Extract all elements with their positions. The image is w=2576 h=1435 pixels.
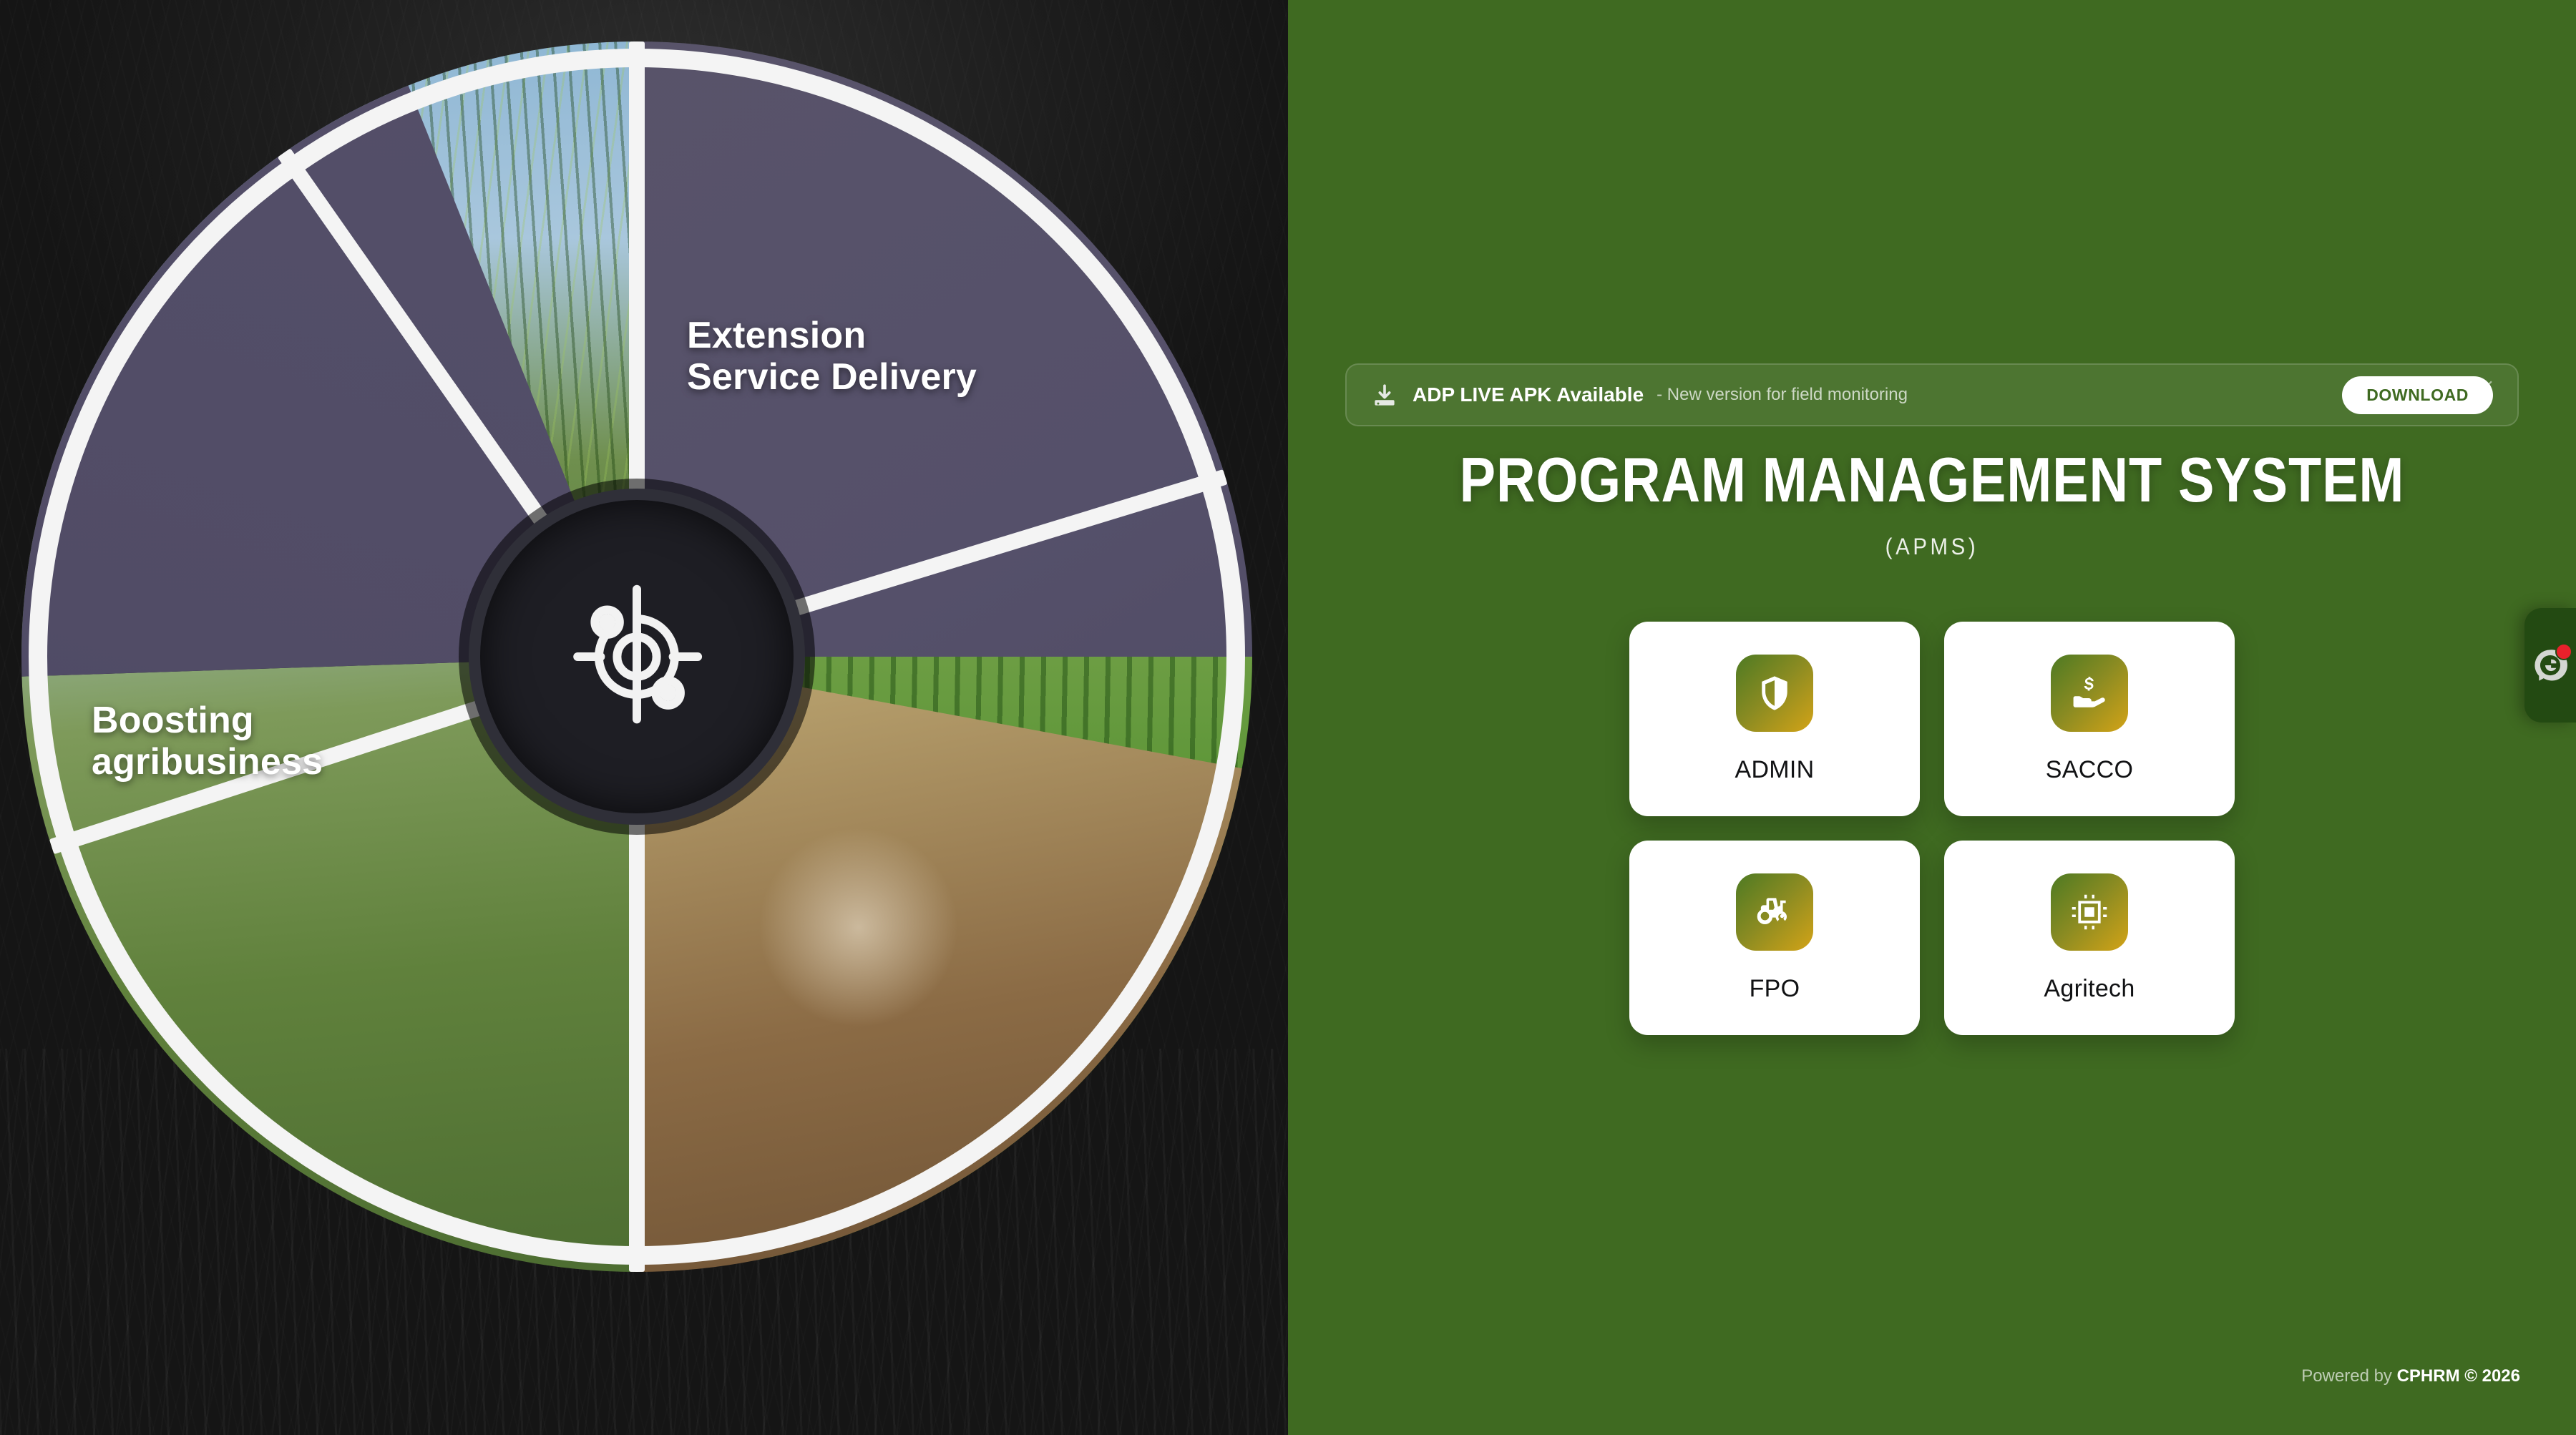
target-network-icon — [555, 574, 719, 739]
role-card-label: ADMIN — [1735, 756, 1814, 784]
role-card-admin[interactable]: ADMIN — [1629, 622, 1920, 816]
download-icon — [1371, 381, 1398, 408]
wheel-label-line: agribusiness — [92, 741, 492, 783]
download-button[interactable]: DOWNLOAD — [2342, 376, 2493, 414]
wheel-hub — [469, 489, 805, 825]
footer-credit: Powered by CPHRM © 2026 — [2301, 1366, 2520, 1386]
tractor-icon — [1755, 892, 1795, 932]
hand-holding-dollar-icon — [2069, 673, 2109, 713]
hero-image-panel: Extension Service Delivery Boosting agri… — [0, 0, 1288, 1435]
apk-announcement-banner[interactable]: ADP LIVE APK Available - New version for… — [1345, 363, 2519, 426]
chat-widget-tab[interactable] — [2524, 608, 2576, 723]
role-icon-wrapper — [2051, 655, 2128, 732]
role-card-agritech[interactable]: Agritech — [1944, 841, 2235, 1035]
page-subtitle: (APMS) — [1340, 534, 2524, 560]
page-title-block: PROGRAM MANAGEMENT SYSTEM (APMS) — [1288, 444, 2576, 560]
footer-brand: CPHRM © 2026 — [2397, 1366, 2520, 1386]
g-chat-logo-icon — [2531, 646, 2570, 685]
role-selection-grid: ADMIN SACCO FPO — [1629, 622, 2235, 1035]
apk-banner-title: ADP LIVE APK Available — [1413, 383, 1644, 406]
apk-banner-subtitle: - New version for field monitoring — [1657, 385, 1908, 405]
role-card-label: Agritech — [2044, 975, 2135, 1003]
role-card-sacco[interactable]: SACCO — [1944, 622, 2235, 816]
footer-prefix: Powered by — [2301, 1366, 2396, 1386]
role-card-fpo[interactable]: FPO — [1629, 841, 1920, 1035]
login-role-panel: ADP LIVE APK Available - New version for… — [1288, 0, 2576, 1435]
role-icon-wrapper — [2051, 873, 2128, 951]
wheel-label-extension-service: Extension Service Delivery — [687, 315, 1145, 398]
wheel-label-boosting-agribusiness: Boosting agribusiness — [92, 700, 492, 783]
microchip-icon — [2069, 892, 2109, 932]
notification-badge — [2555, 643, 2572, 660]
role-card-label: SACCO — [2046, 756, 2133, 784]
wheel-label-line: Extension — [687, 315, 1145, 356]
wheel-label-line: Boosting — [92, 700, 492, 741]
role-icon-wrapper — [1736, 655, 1813, 732]
role-icon-wrapper — [1736, 873, 1813, 951]
wheel-label-line: Service Delivery — [687, 356, 1145, 398]
page-title: PROGRAM MANAGEMENT SYSTEM — [1378, 444, 2486, 516]
close-icon[interactable]: × — [2473, 372, 2502, 401]
role-card-label: FPO — [1750, 975, 1800, 1003]
program-wheel-infographic — [21, 41, 1252, 1272]
shield-icon — [1755, 673, 1795, 713]
